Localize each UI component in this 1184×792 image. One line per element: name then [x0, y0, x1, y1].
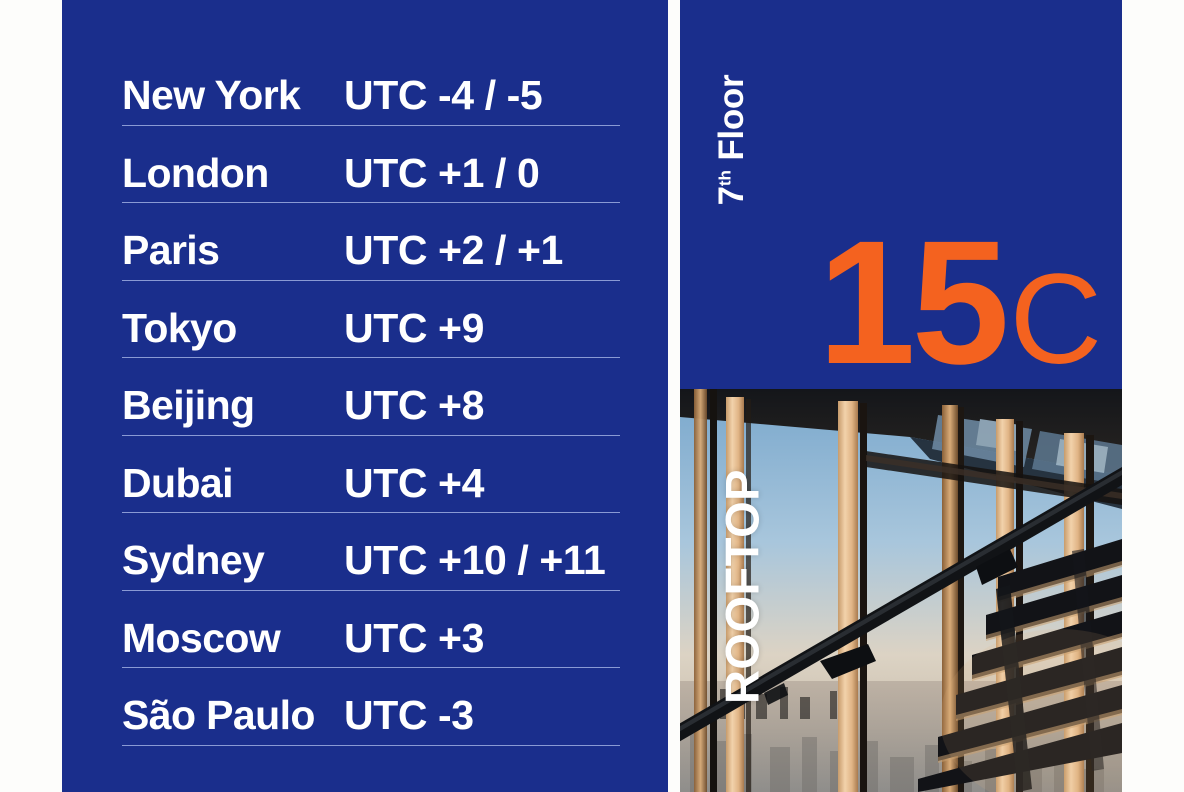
poster-canvas: New York UTC -4 / -5 London UTC +1 / 0 P… [0, 0, 1184, 792]
utc-offset: UTC +3 [344, 591, 484, 659]
utc-offset: UTC +9 [344, 281, 484, 349]
table-row: New York UTC -4 / -5 [122, 48, 620, 126]
rooftop-photo: ROOFTOP [680, 389, 1122, 792]
timezone-table: New York UTC -4 / -5 London UTC +1 / 0 P… [122, 48, 620, 746]
floor-label: 7th Floor [712, 50, 752, 230]
utc-offset: UTC +4 [344, 436, 484, 504]
table-row: Sydney UTC +10 / +11 [122, 513, 620, 591]
utc-offset: UTC +2 / +1 [344, 203, 563, 271]
city-name: Paris [122, 203, 344, 271]
city-name: Beijing [122, 358, 344, 426]
table-row: Paris UTC +2 / +1 [122, 203, 620, 281]
city-name: Moscow [122, 591, 344, 659]
floor-ordinal-suffix: th [715, 170, 734, 186]
timezone-panel: New York UTC -4 / -5 London UTC +1 / 0 P… [62, 0, 668, 792]
utc-offset: UTC +1 / 0 [344, 126, 539, 194]
table-row: Beijing UTC +8 [122, 358, 620, 436]
table-row: São Paulo UTC -3 [122, 668, 620, 746]
city-name: Dubai [122, 436, 344, 504]
table-row: Dubai UTC +4 [122, 436, 620, 514]
city-name: London [122, 126, 344, 194]
table-row: Moscow UTC +3 [122, 591, 620, 669]
table-row: London UTC +1 / 0 [122, 126, 620, 204]
rooftop-caption: ROOFTOP [715, 437, 770, 737]
temperature-value: 15 [818, 226, 1006, 381]
floor-temperature-panel: 7th Floor 15 C [680, 0, 1122, 389]
temperature-unit: C [1010, 264, 1100, 377]
floor-word: Floor [712, 75, 751, 161]
temperature-readout: 15 C [818, 226, 1100, 381]
city-name: New York [122, 48, 344, 116]
utc-offset: UTC -3 [344, 668, 474, 736]
utc-offset: UTC +8 [344, 358, 484, 426]
floor-number: 7 [712, 186, 751, 205]
city-name: Tokyo [122, 281, 344, 349]
city-name: Sydney [122, 513, 344, 581]
city-name: São Paulo [122, 668, 344, 736]
utc-offset: UTC -4 / -5 [344, 48, 542, 116]
table-row: Tokyo UTC +9 [122, 281, 620, 359]
utc-offset: UTC +10 / +11 [344, 513, 605, 581]
